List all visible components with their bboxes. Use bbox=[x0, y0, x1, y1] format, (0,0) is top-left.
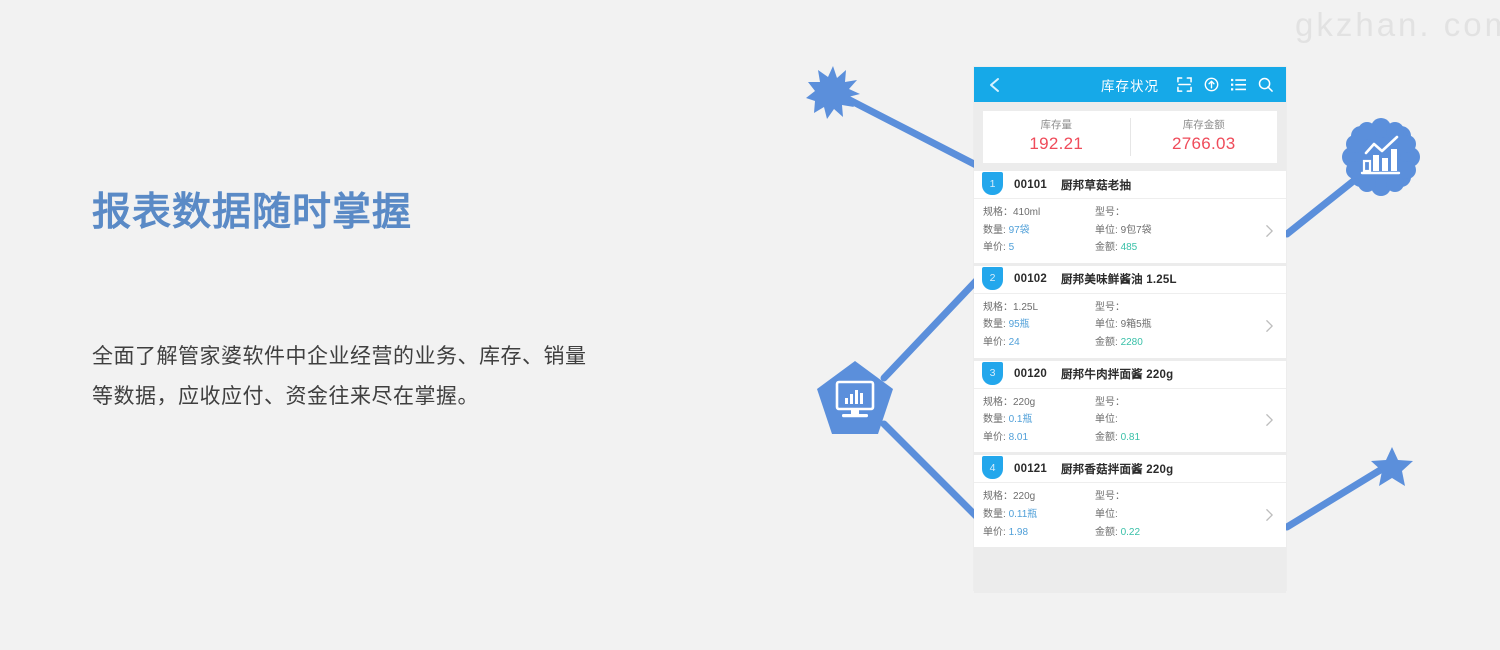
item-unit-line: 单位: 9包7袋 bbox=[1095, 222, 1152, 240]
item-spec-line: 规格：220g bbox=[983, 488, 1095, 506]
label-price: 单价: bbox=[983, 432, 1006, 443]
item-name: 厨邦牛肉拌面酱 220g bbox=[1061, 366, 1173, 382]
item-col-left: 规格：220g 数量: 0.1瓶 单价: 8.01 bbox=[983, 394, 1095, 447]
list-item[interactable]: 4 00121 厨邦香菇拌面酱 220g 规格：220g 数量: 0.11瓶 单… bbox=[974, 455, 1286, 550]
item-code: 00120 bbox=[1014, 368, 1047, 380]
label-model: 型号： bbox=[1095, 491, 1125, 502]
summary-value: 192.21 bbox=[983, 133, 1130, 156]
label-amount: 金额: bbox=[1095, 527, 1118, 538]
item-unit-line: 单位: bbox=[1095, 411, 1140, 429]
summary-panel: 库存量 192.21 库存金额 2766.03 bbox=[983, 111, 1277, 163]
item-amount-line: 金额: 0.81 bbox=[1095, 429, 1140, 447]
item-qty-line: 数量: 97袋 bbox=[983, 222, 1095, 240]
item-spec-line: 规格：220g bbox=[983, 394, 1095, 412]
value-amount: 0.81 bbox=[1121, 432, 1140, 443]
value-amount: 2280 bbox=[1121, 337, 1143, 348]
label-spec: 规格： bbox=[983, 207, 1013, 218]
value-price: 1.98 bbox=[1009, 527, 1028, 538]
item-code: 00102 bbox=[1014, 273, 1047, 285]
value-spec: 220g bbox=[1013, 397, 1035, 408]
index-badge: 2 bbox=[982, 267, 1003, 290]
summary-cell-qty: 库存量 192.21 bbox=[983, 118, 1130, 156]
chevron-right-icon[interactable] bbox=[1265, 319, 1274, 333]
item-qty-line: 数量: 0.11瓶 bbox=[983, 506, 1095, 524]
summary-label: 库存量 bbox=[983, 118, 1130, 133]
chevron-left-icon[interactable] bbox=[987, 77, 1003, 93]
list-item-body: 规格：410ml 数量: 97袋 单价: 5 型号： 单位: 9包7袋 金额: … bbox=[974, 198, 1286, 263]
item-name: 厨邦香菇拌面酱 220g bbox=[1061, 461, 1173, 477]
list-item-header: 1 00101 厨邦草菇老抽 bbox=[974, 171, 1286, 198]
list-item-header: 4 00121 厨邦香菇拌面酱 220g bbox=[974, 455, 1286, 482]
item-model-line: 型号： bbox=[1095, 394, 1140, 412]
value-qty: 0.11瓶 bbox=[1009, 509, 1038, 520]
phone-mockup: 库存状况 bbox=[974, 67, 1286, 590]
item-price-line: 单价: 1.98 bbox=[983, 524, 1095, 542]
list-item-header: 3 00120 厨邦牛肉拌面酱 220g bbox=[974, 361, 1286, 388]
label-spec: 规格： bbox=[983, 397, 1013, 408]
item-code: 00101 bbox=[1014, 179, 1047, 191]
value-price: 5 bbox=[1009, 242, 1015, 253]
label-amount: 金额: bbox=[1095, 337, 1118, 348]
scan-frame-icon[interactable] bbox=[1177, 77, 1192, 92]
search-icon[interactable] bbox=[1258, 77, 1273, 92]
item-name: 厨邦草菇老抽 bbox=[1061, 177, 1131, 193]
list-item-body: 规格：220g 数量: 0.1瓶 单价: 8.01 型号： 单位: 金额: 0.… bbox=[974, 388, 1286, 453]
label-price: 单价: bbox=[983, 337, 1006, 348]
item-code: 00121 bbox=[1014, 463, 1047, 475]
item-qty-line: 数量: 0.1瓶 bbox=[983, 411, 1095, 429]
value-spec: 1.25L bbox=[1013, 302, 1038, 313]
poster-stage: gkzhan. com bbox=[0, 0, 1500, 650]
value-qty: 0.1瓶 bbox=[1009, 414, 1033, 425]
value-unit: 9箱5瓶 bbox=[1121, 319, 1152, 330]
item-amount-line: 金额: 0.22 bbox=[1095, 524, 1140, 542]
pentagon-monitor-chart-icon bbox=[816, 360, 894, 436]
summary-cell-amount: 库存金额 2766.03 bbox=[1130, 118, 1278, 156]
value-qty: 95瓶 bbox=[1009, 319, 1030, 330]
item-price-line: 单价: 5 bbox=[983, 239, 1095, 257]
label-price: 单价: bbox=[983, 527, 1006, 538]
list-item[interactable]: 1 00101 厨邦草菇老抽 规格：410ml 数量: 97袋 单价: 5 型号… bbox=[974, 171, 1286, 266]
item-col-right: 型号： 单位: 9包7袋 金额: 485 bbox=[1095, 204, 1152, 257]
label-amount: 金额: bbox=[1095, 432, 1118, 443]
label-amount: 金额: bbox=[1095, 242, 1118, 253]
summary-label: 库存金额 bbox=[1131, 118, 1278, 133]
value-amount: 0.22 bbox=[1121, 527, 1140, 538]
item-price-line: 单价: 8.01 bbox=[983, 429, 1095, 447]
marketing-copy: 报表数据随时掌握 全面了解管家婆软件中企业经营的业务、库存、销量等数据，应收应付… bbox=[92, 190, 612, 417]
item-model-line: 型号： bbox=[1095, 488, 1140, 506]
page-paragraph: 全面了解管家婆软件中企业经营的业务、库存、销量等数据，应收应付、资金往来尽在掌握… bbox=[92, 337, 587, 418]
item-col-left: 规格：1.25L 数量: 95瓶 单价: 24 bbox=[983, 299, 1095, 352]
chevron-right-icon[interactable] bbox=[1265, 508, 1274, 522]
list-item[interactable]: 3 00120 厨邦牛肉拌面酱 220g 规格：220g 数量: 0.1瓶 单价… bbox=[974, 361, 1286, 456]
item-name: 厨邦美味鲜酱油 1.25L bbox=[1061, 271, 1177, 287]
page-heading: 报表数据随时掌握 bbox=[92, 190, 612, 237]
chevron-right-icon[interactable] bbox=[1265, 413, 1274, 427]
value-price: 24 bbox=[1009, 337, 1020, 348]
label-unit: 单位: bbox=[1095, 414, 1118, 425]
label-qty: 数量: bbox=[983, 225, 1006, 236]
item-qty-line: 数量: 95瓶 bbox=[983, 316, 1095, 334]
list-item-body: 规格：1.25L 数量: 95瓶 单价: 24 型号： 单位: 9箱5瓶 金额:… bbox=[974, 293, 1286, 358]
star-icon bbox=[1370, 446, 1414, 488]
label-qty: 数量: bbox=[983, 319, 1006, 330]
item-spec-line: 规格：1.25L bbox=[983, 299, 1095, 317]
summary-value: 2766.03 bbox=[1131, 133, 1278, 156]
item-price-line: 单价: 24 bbox=[983, 334, 1095, 352]
label-model: 型号： bbox=[1095, 302, 1125, 313]
list-item-header: 2 00102 厨邦美味鲜酱油 1.25L bbox=[974, 266, 1286, 293]
label-price: 单价: bbox=[983, 242, 1006, 253]
label-model: 型号： bbox=[1095, 207, 1125, 218]
item-unit-line: 单位: bbox=[1095, 506, 1140, 524]
phone-footer-area bbox=[974, 550, 1286, 593]
label-unit: 单位: bbox=[1095, 509, 1118, 520]
value-price: 8.01 bbox=[1009, 432, 1028, 443]
item-model-line: 型号： bbox=[1095, 204, 1152, 222]
label-spec: 规格： bbox=[983, 302, 1013, 313]
item-model-line: 型号： bbox=[1095, 299, 1152, 317]
upload-circle-icon[interactable] bbox=[1204, 77, 1219, 92]
label-spec: 规格： bbox=[983, 491, 1013, 502]
list-item[interactable]: 2 00102 厨邦美味鲜酱油 1.25L 规格：1.25L 数量: 95瓶 单… bbox=[974, 266, 1286, 361]
list-lines-icon[interactable] bbox=[1231, 77, 1246, 92]
header-actions bbox=[1177, 77, 1273, 92]
index-badge: 3 bbox=[982, 362, 1003, 385]
chevron-right-icon[interactable] bbox=[1265, 224, 1274, 238]
item-amount-line: 金额: 2280 bbox=[1095, 334, 1152, 352]
starburst-icon bbox=[806, 64, 860, 120]
label-unit: 单位: bbox=[1095, 225, 1118, 236]
item-col-left: 规格：410ml 数量: 97袋 单价: 5 bbox=[983, 204, 1095, 257]
value-unit: 9包7袋 bbox=[1121, 225, 1152, 236]
item-unit-line: 单位: 9箱5瓶 bbox=[1095, 316, 1152, 334]
label-qty: 数量: bbox=[983, 509, 1006, 520]
scalloped-bar-chart-badge-icon bbox=[1341, 117, 1421, 197]
index-badge: 1 bbox=[982, 172, 1003, 195]
label-unit: 单位: bbox=[1095, 319, 1118, 330]
value-spec: 410ml bbox=[1013, 207, 1040, 218]
value-spec: 220g bbox=[1013, 491, 1035, 502]
item-col-right: 型号： 单位: 9箱5瓶 金额: 2280 bbox=[1095, 299, 1152, 352]
index-badge: 4 bbox=[982, 456, 1003, 479]
item-col-right: 型号： 单位: 金额: 0.81 bbox=[1095, 394, 1140, 447]
value-amount: 485 bbox=[1121, 242, 1138, 253]
item-col-right: 型号： 单位: 金额: 0.22 bbox=[1095, 488, 1140, 541]
label-model: 型号： bbox=[1095, 397, 1125, 408]
list-item-body: 规格：220g 数量: 0.11瓶 单价: 1.98 型号： 单位: 金额: 0… bbox=[974, 482, 1286, 547]
inventory-list: 1 00101 厨邦草菇老抽 规格：410ml 数量: 97袋 单价: 5 型号… bbox=[974, 171, 1286, 550]
value-qty: 97袋 bbox=[1009, 225, 1030, 236]
app-header: 库存状况 bbox=[974, 67, 1286, 102]
item-amount-line: 金额: 485 bbox=[1095, 239, 1152, 257]
label-qty: 数量: bbox=[983, 414, 1006, 425]
item-spec-line: 规格：410ml bbox=[983, 204, 1095, 222]
item-col-left: 规格：220g 数量: 0.11瓶 单价: 1.98 bbox=[983, 488, 1095, 541]
